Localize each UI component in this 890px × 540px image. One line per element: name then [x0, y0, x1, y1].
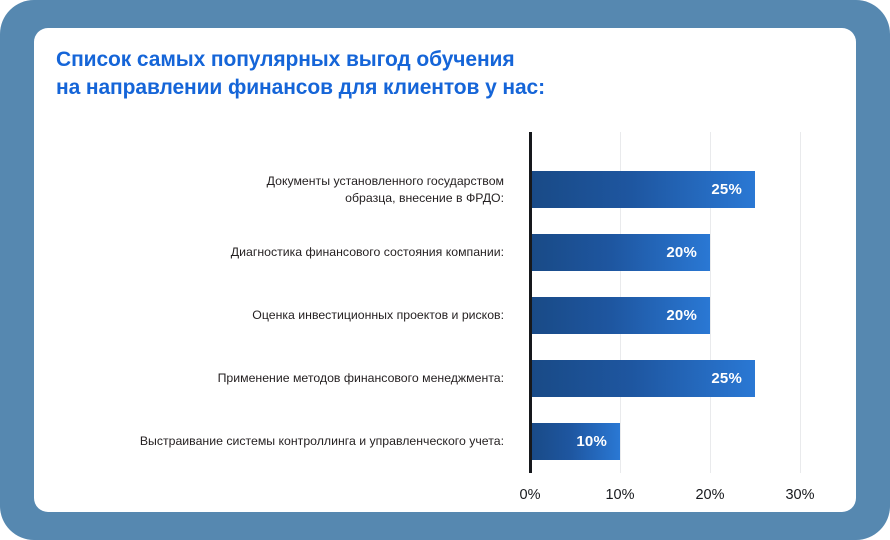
page-title-line-1: Список самых популярных выгод обучения [56, 46, 696, 74]
outer-frame: Список самых популярных выгод обучения н… [0, 0, 890, 540]
bar: 20% [530, 297, 710, 334]
bar: 20% [530, 234, 710, 271]
category-label: Документы установленного государством об… [44, 173, 504, 207]
category-label: Оценка инвестиционных проектов и рисков: [44, 307, 504, 324]
chart-card: Список самых популярных выгод обучения н… [34, 28, 856, 512]
x-tick-0: 0% [520, 487, 541, 503]
category-label: Применение методов финансового менеджмен… [44, 370, 504, 387]
x-axis: 0% 10% 20% 30% [530, 473, 800, 512]
x-tick-20: 20% [695, 487, 724, 503]
bar: 25% [530, 171, 755, 208]
bar-row: Документы установленного государством об… [530, 158, 800, 221]
page-title: Список самых популярных выгод обучения н… [56, 46, 696, 102]
bar-row: Диагностика финансового состояния компан… [530, 221, 800, 284]
bar-value-label: 20% [666, 307, 710, 324]
bar-value-label: 20% [666, 244, 710, 261]
category-label: Диагностика финансового состояния компан… [44, 244, 504, 261]
plot-area: Документы установленного государством об… [530, 158, 800, 473]
bar: 25% [530, 360, 755, 397]
x-tick-10: 10% [605, 487, 634, 503]
bar-row: Применение методов финансового менеджмен… [530, 347, 800, 410]
bar-rows: Документы установленного государством об… [530, 158, 800, 473]
category-label: Выстраивание системы контроллинга и упра… [44, 433, 504, 450]
bar-value-label: 10% [576, 433, 620, 450]
page-title-line-2: на направлении финансов для клиентов у н… [56, 74, 696, 102]
bar: 10% [530, 423, 620, 460]
y-axis-line [529, 132, 532, 473]
bar-value-label: 25% [711, 181, 755, 198]
bar-chart: Документы установленного государством об… [34, 102, 856, 502]
bar-row: Оценка инвестиционных проектов и рисков:… [530, 284, 800, 347]
bar-row: Выстраивание системы контроллинга и упра… [530, 410, 800, 473]
gridline-30 [800, 132, 801, 473]
bar-value-label: 25% [711, 370, 755, 387]
x-tick-30: 30% [785, 487, 814, 503]
